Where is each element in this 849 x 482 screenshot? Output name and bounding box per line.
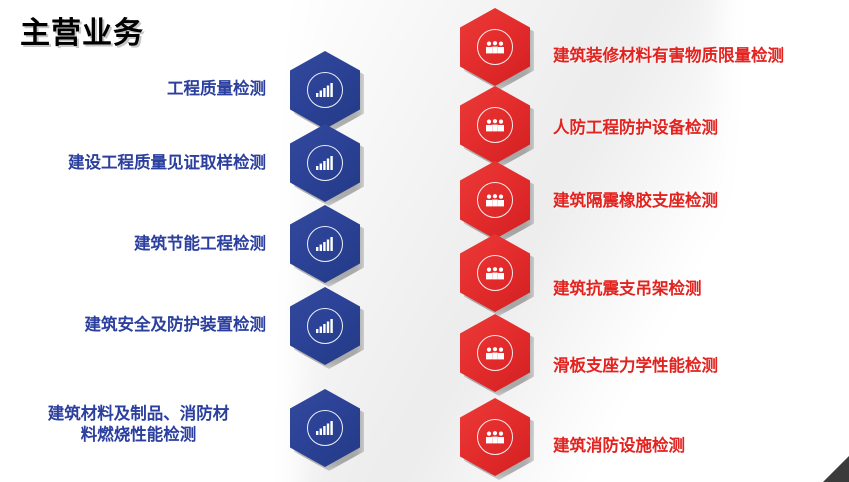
left-label-5: 建筑材料及制品、消防材 料燃烧性能检测	[6, 403, 271, 445]
left-hex-icon-1[interactable]	[290, 51, 360, 129]
slide-canvas: 主营业务 工程质量检测 建设工程质量见证取样检测	[0, 0, 849, 482]
bar-chart-icon	[307, 145, 343, 181]
corner-triangle-decoration	[823, 456, 849, 482]
right-label-6: 建筑消防设施检测	[553, 435, 685, 456]
left-hex-icon-3[interactable]	[290, 205, 360, 283]
left-hex-icon-2[interactable]	[290, 124, 360, 202]
right-hex-icon-1[interactable]	[460, 8, 530, 86]
left-hex-icon-4[interactable]	[290, 287, 360, 365]
right-hex-icon-6[interactable]	[460, 398, 530, 476]
people-group-icon	[477, 29, 513, 65]
page-title: 主营业务	[20, 8, 144, 52]
right-label-3: 建筑隔震橡胶支座检测	[553, 190, 718, 211]
bar-chart-icon	[307, 410, 343, 446]
right-label-4: 建筑抗震支吊架检测	[553, 278, 702, 299]
right-label-5: 滑板支座力学性能检测	[553, 355, 718, 376]
left-label-4: 建筑安全及防护装置检测	[85, 314, 267, 335]
people-group-icon	[477, 335, 513, 371]
bar-chart-icon	[307, 226, 343, 262]
right-label-1: 建筑装修材料有害物质限量检测	[553, 45, 784, 66]
right-hex-icon-2[interactable]	[460, 86, 530, 164]
left-hex-icon-5[interactable]	[290, 389, 360, 467]
bar-chart-icon	[307, 308, 343, 344]
people-group-icon	[477, 182, 513, 218]
people-group-icon	[477, 255, 513, 291]
left-label-1: 工程质量检测	[167, 78, 266, 99]
people-group-icon	[477, 107, 513, 143]
left-label-2: 建设工程质量见证取样检测	[68, 152, 266, 173]
right-hex-icon-4[interactable]	[460, 234, 530, 312]
right-hex-icon-3[interactable]	[460, 161, 530, 239]
right-hex-icon-5[interactable]	[460, 314, 530, 392]
left-label-3: 建筑节能工程检测	[134, 233, 266, 254]
people-group-icon	[477, 419, 513, 455]
right-label-2: 人防工程防护设备检测	[553, 117, 718, 138]
bar-chart-icon	[307, 72, 343, 108]
